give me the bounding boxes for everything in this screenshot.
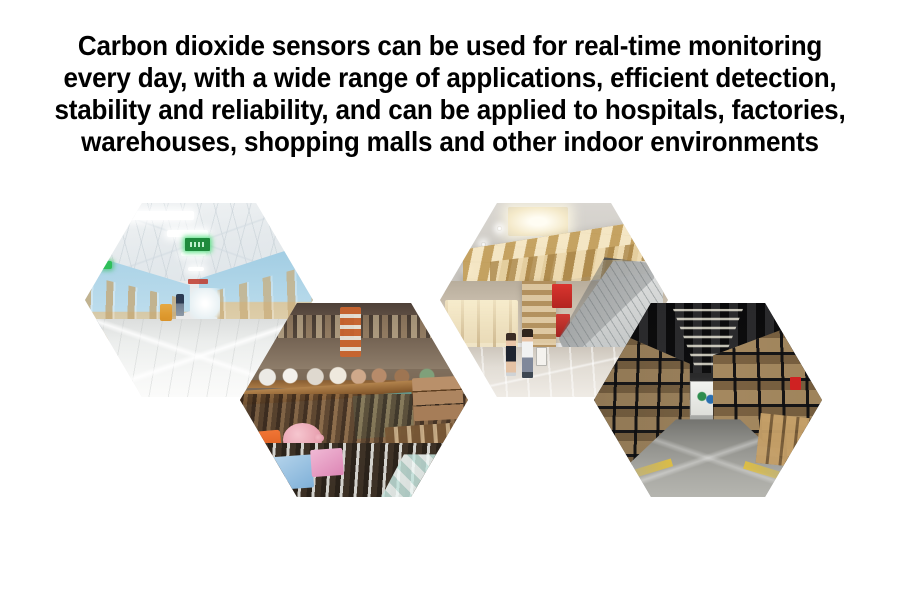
mall-skylight — [508, 207, 567, 236]
page-title: Carbon dioxide sensors can be used for r… — [32, 30, 869, 158]
hospital-cart — [160, 304, 171, 321]
hospital-light-panel — [167, 230, 208, 237]
store-pink-product-box — [310, 447, 344, 476]
store-drawer-cabinet — [412, 375, 464, 420]
hospital-corridor-vanishing-point — [190, 288, 220, 319]
mall-shopper — [506, 333, 516, 376]
hospital-light-panel — [188, 267, 204, 270]
promo-banner: Carbon dioxide sensors can be used for r… — [0, 0, 900, 592]
warehouse-red-sign — [790, 377, 801, 391]
headline-line-1: Carbon dioxide sensors can be used for r… — [32, 30, 869, 62]
hospital-light-panel — [181, 252, 206, 257]
hexagon-image-gallery — [0, 180, 900, 520]
store-blue-product-box — [266, 455, 314, 491]
store-hanging-display — [340, 307, 361, 357]
headline-line-2: every day, with a wide range of applicat… — [32, 62, 869, 94]
mall-shopper — [522, 329, 533, 378]
hospital-wall-sign — [188, 279, 209, 285]
hospital-wall-indicator — [101, 261, 112, 269]
hospital-person — [176, 294, 184, 315]
exit-sign-icon — [185, 238, 210, 252]
headline-line-3: stability and reliability, and can be ap… — [32, 94, 869, 126]
warehouse-cardboard-boxes — [756, 413, 820, 469]
hospital-light-panel — [126, 211, 194, 221]
headline-line-4: warehouses, shopping malls and other ind… — [32, 126, 869, 158]
mall-red-signage — [552, 284, 573, 307]
mall-shopping-bag — [536, 347, 547, 366]
store-lower-shelf — [240, 443, 468, 497]
